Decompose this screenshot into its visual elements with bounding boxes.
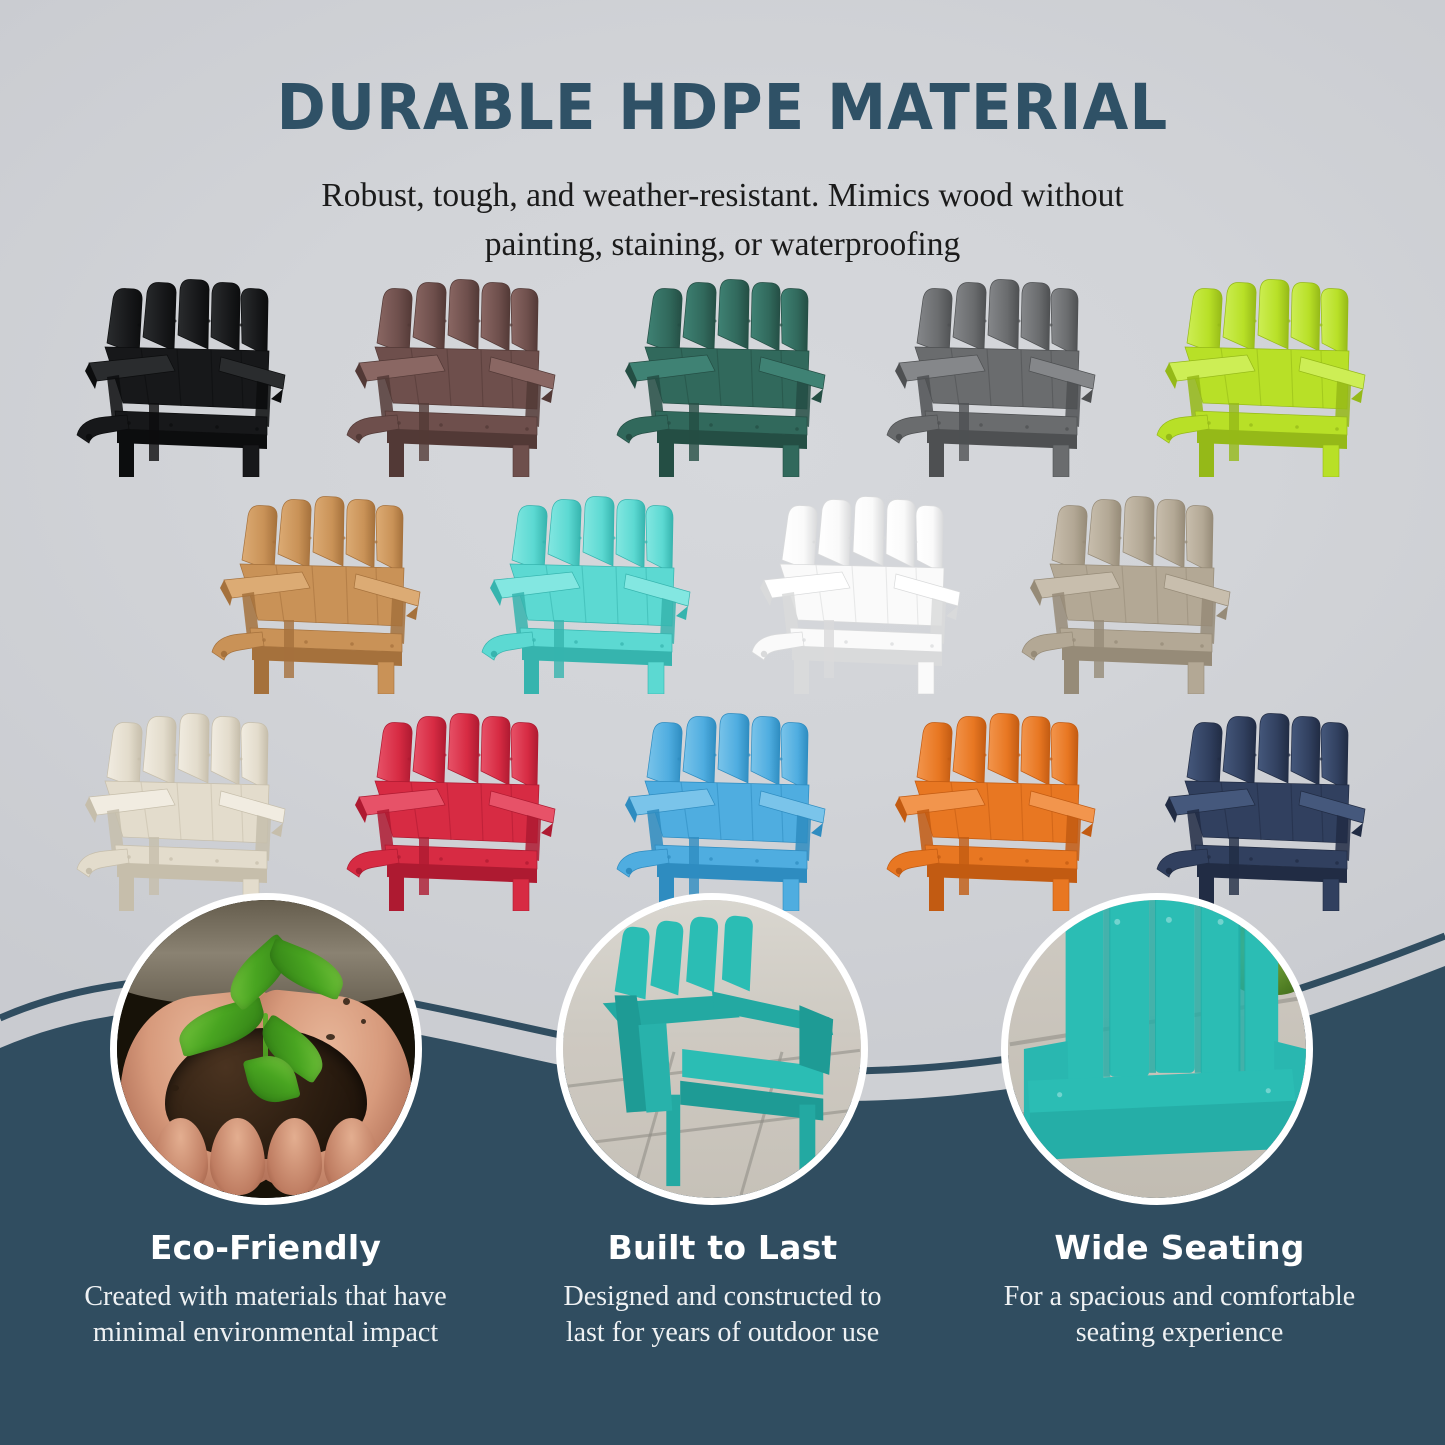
chair-svg [71,711,295,911]
chair-lime-green[interactable] [1138,272,1388,477]
chair-svg [881,711,1105,911]
feature-description: Designed and constructed to last for yea… [500,1279,945,1352]
feature-list: Eco-Friendly Created with materials that… [0,1228,1445,1408]
chair-svg [881,277,1105,477]
chair-red[interactable] [328,706,578,911]
infographic-canvas: DURABLE HDPE MATERIAL Robust, tough, and… [0,0,1445,1445]
feature-eco-friendly: Eco-Friendly Created with materials that… [43,1228,488,1352]
photo-turquoise-chair-seat-closeup [1008,900,1306,1198]
feature-desc-line-1: Created with materials that have [84,1281,446,1312]
feature-desc-line-1: For a spacious and comfortable [1004,1281,1355,1312]
chair-row-3 [0,706,1445,911]
feature-description: For a spacious and comfortable seating e… [957,1279,1402,1352]
chair-dark-green[interactable] [598,272,848,477]
chair-teak[interactable] [193,489,443,694]
feature-heading: Built to Last [500,1228,945,1267]
chair-color-grid [0,272,1445,911]
chair-white[interactable] [733,489,983,694]
chair-svg [1016,494,1240,694]
feature-description: Created with materials that have minimal… [43,1279,488,1352]
chair-svg [611,277,835,477]
chair-gray[interactable] [868,272,1118,477]
chair-row-2 [0,489,1445,694]
chair-light-blue[interactable] [598,706,848,911]
feature-desc-line-2: minimal environmental impact [93,1317,438,1348]
chair-svg [746,494,970,694]
feature-wide-seating: Wide Seating For a spacious and comforta… [957,1228,1402,1352]
page-title: DURABLE HDPE MATERIAL [43,76,1401,139]
feature-built-to-last: Built to Last Designed and constructed t… [500,1228,945,1352]
chair-ivory[interactable] [58,706,308,911]
feature-desc-line-2: last for years of outdoor use [566,1317,879,1348]
chair-svg [71,277,295,477]
chair-svg [206,494,430,694]
feature-heading: Wide Seating [957,1228,1402,1267]
photo-turquoise-chair-on-patio [563,900,861,1198]
photo-circle-durability [556,893,868,1205]
chair-black[interactable] [58,272,308,477]
feature-desc-line-1: Designed and constructed to [563,1281,881,1312]
chair-svg [341,277,565,477]
photo-circle-eco [110,893,422,1205]
chair-turquoise[interactable] [463,489,713,694]
subtitle-line-2: painting, staining, or waterproofing [223,221,1223,270]
feature-desc-line-2: seating experience [1076,1317,1284,1348]
chair-weathered-wood[interactable] [1003,489,1253,694]
chair-svg [341,711,565,911]
chair-svg [476,494,700,694]
photo-circles [0,893,1445,1223]
chair-row-1 [0,272,1445,477]
chair-svg [1151,711,1375,911]
chair-svg [1151,277,1375,477]
photo-circle-seating [1001,893,1313,1205]
page-subtitle: Robust, tough, and weather-resistant. Mi… [223,172,1223,269]
photo-hands-holding-seedling [117,900,415,1198]
chair-orange[interactable] [868,706,1118,911]
chair-svg [611,711,835,911]
chair-brown[interactable] [328,272,578,477]
feature-heading: Eco-Friendly [43,1228,488,1267]
subtitle-line-1: Robust, tough, and weather-resistant. Mi… [223,172,1223,221]
chair-navy-blue[interactable] [1138,706,1388,911]
